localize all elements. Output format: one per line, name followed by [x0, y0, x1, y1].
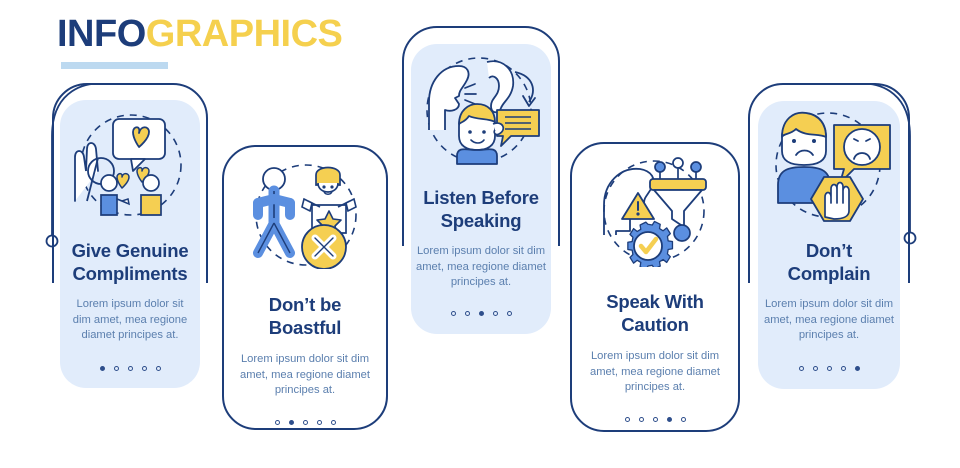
card-body: Lorem ipsum dolor sit dim amet, mea regi… [570, 349, 740, 396]
card-speak-with-caution[interactable]: Speak With Caution Lorem ipsum dolor sit… [570, 142, 740, 432]
card-body: Lorem ipsum dolor sit dim amet, mea regi… [402, 244, 560, 291]
title-underline-rule [61, 62, 168, 69]
step-dot-4[interactable] [493, 311, 498, 316]
step-dot-1[interactable] [451, 311, 456, 316]
card-body: Lorem ipsum dolor sit dim amet, mea regi… [748, 297, 910, 344]
boastful-icon [222, 159, 388, 271]
caution-icon [570, 156, 740, 268]
title-info: INFO [57, 13, 146, 55]
step-dot-3[interactable] [479, 311, 484, 316]
step-dot-5[interactable] [331, 420, 336, 425]
card-listen-before-speaking[interactable]: Listen Before Speaking Lorem ipsum dolor… [402, 26, 560, 316]
step-dot-3[interactable] [128, 366, 133, 371]
card-body: Lorem ipsum dolor sit dim amet, mea regi… [52, 297, 208, 344]
card-step-dots[interactable] [451, 311, 512, 316]
step-dot-3[interactable] [303, 420, 308, 425]
step-dot-4[interactable] [317, 420, 322, 425]
step-dot-3[interactable] [827, 366, 832, 371]
step-dot-4[interactable] [841, 366, 846, 371]
complain-icon [748, 105, 910, 225]
card-dont-be-boastful[interactable]: Don’t be Boastful Lorem ipsum dolor sit … [222, 145, 388, 430]
listening-icon [402, 50, 560, 170]
step-dot-1[interactable] [625, 417, 630, 422]
step-dot-3[interactable] [653, 417, 658, 422]
card-step-dots[interactable] [100, 366, 161, 371]
step-dot-1[interactable] [799, 366, 804, 371]
card-title: Speak With Caution [606, 290, 704, 336]
step-dot-2[interactable] [289, 420, 294, 425]
card-title: Give Genuine Compliments [72, 239, 189, 285]
card-give-genuine-compliments[interactable]: Give Genuine Compliments Lorem ipsum dol… [52, 83, 208, 373]
page-title: INFOGRAPHICS [57, 12, 342, 69]
step-dot-5[interactable] [507, 311, 512, 316]
infographic-canvas: INFOGRAPHICS [0, 0, 960, 468]
card-step-dots[interactable] [275, 420, 336, 425]
card-step-dots[interactable] [799, 366, 860, 371]
step-dot-4[interactable] [667, 417, 672, 422]
step-dot-5[interactable] [156, 366, 161, 371]
step-dot-2[interactable] [813, 366, 818, 371]
step-dot-1[interactable] [275, 420, 280, 425]
card-title: Listen Before Speaking [423, 186, 539, 232]
card-title: Don’t be Boastful [269, 293, 341, 339]
step-dot-5[interactable] [855, 366, 860, 371]
step-dot-4[interactable] [142, 366, 147, 371]
title-graphics: GRAPHICS [146, 13, 343, 55]
compliments-icon [52, 105, 208, 225]
card-dont-complain[interactable]: Don’t Complain Lorem ipsum dolor sit dim… [748, 83, 910, 373]
step-dot-2[interactable] [114, 366, 119, 371]
step-dot-2[interactable] [639, 417, 644, 422]
step-dot-5[interactable] [681, 417, 686, 422]
step-dot-2[interactable] [465, 311, 470, 316]
card-body: Lorem ipsum dolor sit dim amet, mea regi… [222, 352, 388, 399]
card-step-dots[interactable] [625, 417, 686, 422]
card-title: Don’t Complain [788, 239, 871, 285]
step-dot-1[interactable] [100, 366, 105, 371]
